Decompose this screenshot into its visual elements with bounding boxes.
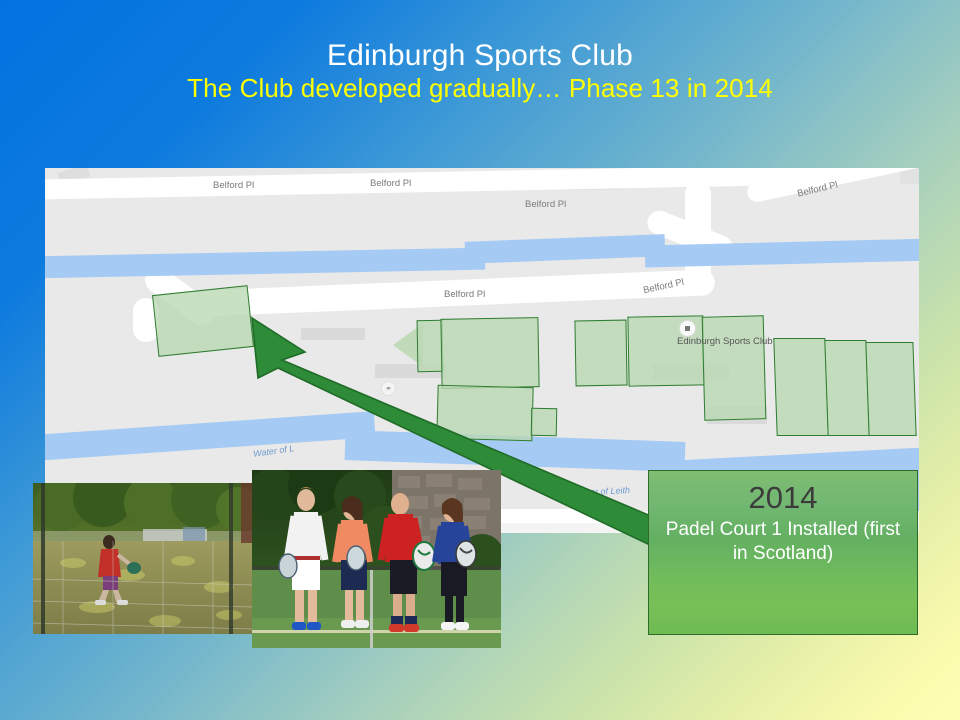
map-road-label: Belford Pl xyxy=(213,180,254,191)
map-road-label: Belford Pl xyxy=(370,178,411,189)
callout-text: Padel Court 1 Installed (first in Scotla… xyxy=(649,518,917,566)
map-court-polygon xyxy=(702,315,767,421)
title-block: Edinburgh Sports Club The Club developed… xyxy=(0,38,960,104)
map-court-polygon xyxy=(152,285,254,357)
square-poi-icon[interactable] xyxy=(679,320,696,337)
map-road-label: Belford Pl xyxy=(525,199,566,210)
status-badge: 2014 Padel Court 1 Installed (first in S… xyxy=(648,470,918,635)
page-title: Edinburgh Sports Club xyxy=(0,38,960,73)
map-poi-label: Edinburgh Sports Club xyxy=(677,336,773,347)
map-polygon-shadow xyxy=(301,328,365,340)
poi-inner-square xyxy=(685,326,690,331)
close-x-icon[interactable]: × xyxy=(614,509,628,523)
map-court-polygon xyxy=(436,385,533,441)
padel-players-group-photo[interactable] xyxy=(252,470,501,648)
page-subtitle: The Club developed gradually… Phase 13 i… xyxy=(0,73,960,104)
map-water-label: er of Leith xyxy=(590,485,630,497)
map-court-polygon xyxy=(417,320,444,372)
padel-court-action-photo[interactable] xyxy=(33,483,253,634)
callout-year: 2014 xyxy=(649,479,917,518)
map-court-polygon xyxy=(773,338,828,436)
map-court-polygon xyxy=(574,320,627,387)
map-road-label: Belford Pl xyxy=(444,289,485,300)
map-court-polygon xyxy=(531,408,557,436)
info-pin-icon[interactable]: ⚭ xyxy=(381,381,396,396)
map-court-polygon xyxy=(440,317,539,389)
map-court-polygon xyxy=(865,342,916,436)
slide-canvas: Edinburgh Sports Club The Club developed… xyxy=(0,0,960,720)
map-court-polygon xyxy=(824,340,869,436)
